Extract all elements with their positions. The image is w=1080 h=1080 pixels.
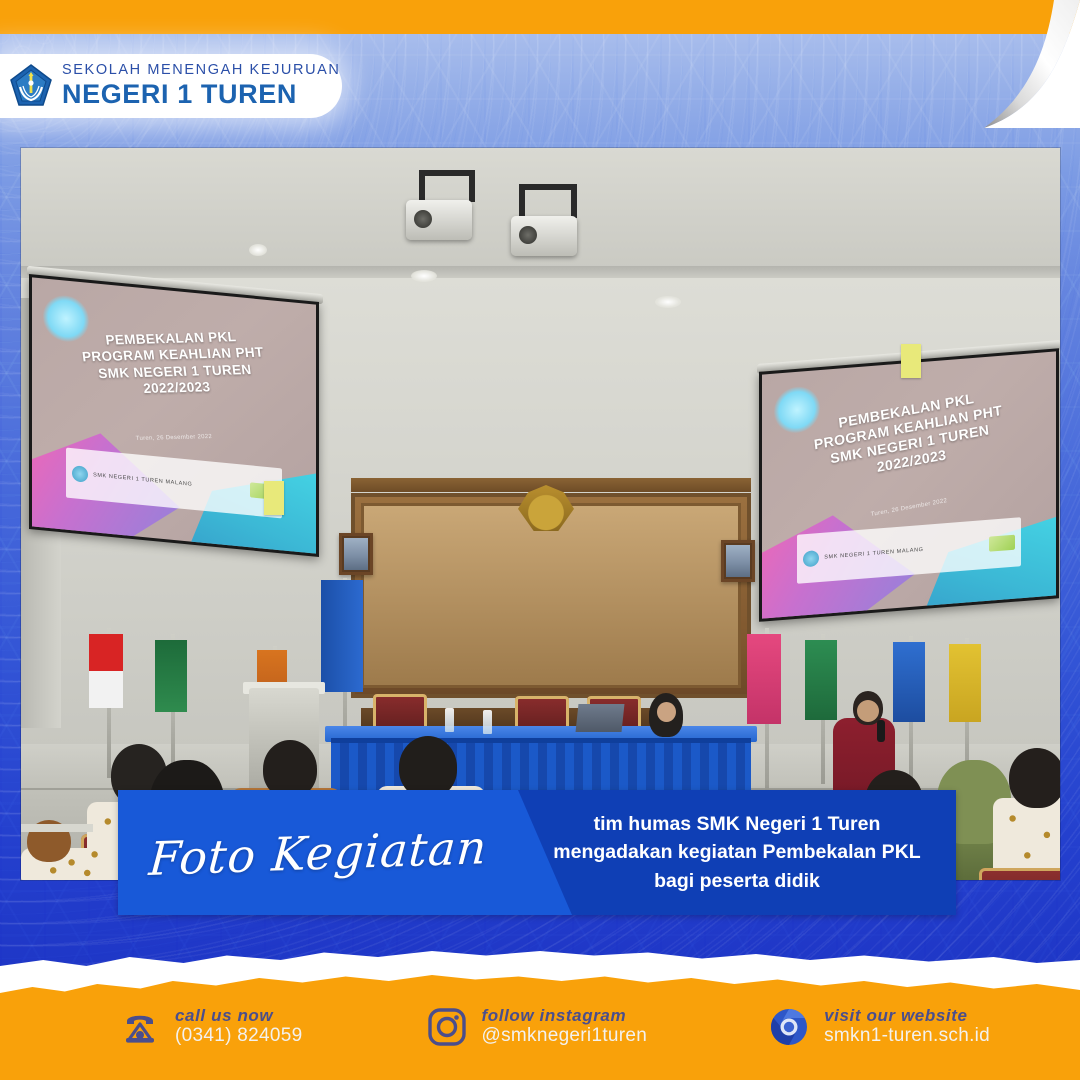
projector-mount <box>519 184 525 218</box>
caption-line-1: tim humas SMK Negeri 1 Turen <box>594 810 881 838</box>
ceiling-projector <box>511 216 577 256</box>
flag-merah-putih <box>89 634 123 708</box>
footer-contact-instagram[interactable]: follow instagram @smknegeri1turen <box>425 1005 648 1049</box>
slide-title-block: PEMBEKALAN PKL PROGRAM KEAHLIAN PHT SMK … <box>32 327 316 401</box>
flag-pink <box>747 634 781 724</box>
portrait-photo-right <box>721 540 755 582</box>
footer-instagram-value: @smknegeri1turen <box>482 1025 648 1048</box>
poster-canvas: SEKOLAH MENENGAH KEJURUAN NEGERI 1 TUREN <box>0 0 1080 1080</box>
presentation-slide: PEMBEKALAN PKL PROGRAM KEAHLIAN PHT SMK … <box>762 351 1056 618</box>
footer-contact-phone[interactable]: call us now (0341) 824059 <box>118 1005 303 1049</box>
slide-footer-logo-icon <box>72 465 88 483</box>
flag-blue-2 <box>893 642 925 722</box>
speaker-person-face <box>857 700 879 722</box>
footer-website-label: visit our website <box>824 1006 990 1026</box>
projector-arm <box>421 170 473 176</box>
ceiling-downlight <box>411 270 437 282</box>
caption-line-2: mengadakan kegiatan Pembekalan PKL <box>553 838 920 866</box>
portrait-photo-left <box>339 533 373 575</box>
footer-phone-label: call us now <box>175 1006 303 1026</box>
projection-screen-right: PEMBEKALAN PKL PROGRAM KEAHLIAN PHT SMK … <box>759 348 1059 622</box>
projector-mount <box>419 170 425 202</box>
audience-person-head <box>399 736 457 798</box>
activity-photo: PEMBEKALAN PKL PROGRAM KEAHLIAN PHT SMK … <box>21 148 1060 880</box>
footer-contact-website[interactable]: visit our website smkn1-turen.sch.id <box>767 1005 990 1049</box>
slide-line-1: PEMBEKALAN PKL <box>105 329 237 348</box>
footer-section: call us now (0341) 824059 follow instagr… <box>0 930 1080 1080</box>
room-ceiling <box>21 148 1060 278</box>
flag-yellow <box>949 644 981 722</box>
tut-wuri-handayani-emblem-icon <box>8 63 54 109</box>
slide-line-3: SMK NEGERI 1 TUREN <box>97 362 252 381</box>
caption-banner: Foto Kegiatan tim humas SMK Negeri 1 Tur… <box>118 790 956 915</box>
flag-green <box>155 640 187 712</box>
telephone-icon <box>118 1005 162 1049</box>
header-text-block: SEKOLAH MENENGAH KEJURUAN NEGERI 1 TUREN <box>62 63 341 108</box>
sticky-note <box>901 344 921 378</box>
caption-banner-left: Foto Kegiatan <box>118 790 518 915</box>
slide-footer-badge <box>989 535 1015 552</box>
footer-instagram-label: follow instagram <box>482 1006 648 1026</box>
moderator-face <box>657 702 676 722</box>
ceiling-projector <box>406 200 472 240</box>
speaker-microphone <box>877 720 885 742</box>
caption-banner-right: tim humas SMK Negeri 1 Turen mengadakan … <box>518 790 956 915</box>
projector-mount <box>469 170 475 202</box>
water-bottle <box>445 708 454 732</box>
header-banner: SEKOLAH MENENGAH KEJURUAN NEGERI 1 TUREN <box>0 54 342 118</box>
slide-footer-logo-icon <box>803 550 819 567</box>
footer-website-value: smkn1-turen.sch.id <box>824 1025 990 1048</box>
projector-mount <box>571 184 577 218</box>
footer-contact-list: call us now (0341) 824059 follow instagr… <box>0 992 1080 1062</box>
projector-arm <box>521 184 575 190</box>
laptop <box>576 704 625 732</box>
water-bottle <box>483 710 492 734</box>
school-name-title: NEGERI 1 TUREN <box>62 80 341 109</box>
flag-green-2 <box>805 640 837 720</box>
sticky-note <box>264 481 284 515</box>
audience-person-head <box>1009 748 1060 808</box>
slide-footer-text: SMK NEGERI 1 TUREN MALANG <box>824 542 983 561</box>
audience-chair <box>979 868 1060 880</box>
slide-line-4: 2022/2023 <box>143 379 212 396</box>
flag-blue-osis <box>321 580 363 692</box>
school-type-label: SEKOLAH MENENGAH KEJURUAN <box>62 63 341 78</box>
caption-script-label: Foto Kegiatan <box>147 820 489 886</box>
chrome-icon <box>767 1005 811 1049</box>
audience-desk <box>21 824 93 832</box>
top-orange-strip <box>0 0 1080 34</box>
instagram-icon <box>425 1005 469 1049</box>
ceiling-downlight <box>655 296 681 308</box>
ceiling-downlight <box>249 244 267 256</box>
footer-phone-value: (0341) 824059 <box>175 1025 303 1048</box>
slide-date: Turen, 26 Desember 2022 <box>33 432 316 445</box>
caption-line-3: bagi peserta didik <box>654 867 820 895</box>
slide-footer-text: SMK NEGERI 1 TUREN MALANG <box>93 472 245 493</box>
